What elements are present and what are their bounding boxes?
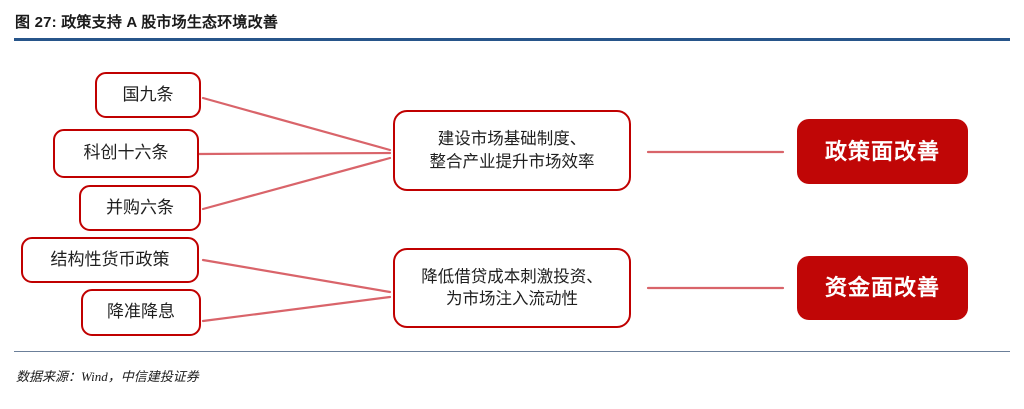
source-node-label: 并购六条	[106, 197, 174, 220]
flow-diagram: 国九条 科创十六条 并购六条 结构性货币政策 降准降息 建设市场基础制度、 整合…	[0, 48, 1024, 348]
middle-node-market-infrastructure[interactable]: 建设市场基础制度、 整合产业提升市场效率	[393, 110, 631, 191]
source-node-jiegouxing[interactable]: 结构性货币政策	[21, 237, 199, 283]
outcome-node-policy-improvement[interactable]: 政策面改善	[797, 119, 968, 184]
middle-node-line2: 为市场注入流动性	[446, 288, 578, 310]
middle-node-line2: 整合产业提升市场效率	[430, 151, 595, 173]
source-node-label: 结构性货币政策	[51, 249, 170, 272]
source-node-label: 科创十六条	[84, 142, 169, 165]
edge-jiangzhun-to-funding	[203, 297, 390, 321]
middle-node-line1: 降低借贷成本刺激投资、	[421, 266, 603, 288]
header-divider	[14, 38, 1010, 41]
edge-kechuang16-to-market	[199, 153, 390, 154]
middle-node-line1: 建设市场基础制度、	[438, 128, 587, 150]
source-node-guojiutiao[interactable]: 国九条	[95, 72, 201, 118]
source-node-kechuang16[interactable]: 科创十六条	[53, 129, 199, 178]
source-node-label: 国九条	[123, 84, 174, 107]
edge-guojiutiao-to-market	[203, 98, 390, 150]
outcome-node-label: 资金面改善	[825, 273, 940, 303]
source-node-jiangzhun[interactable]: 降准降息	[81, 289, 201, 336]
source-node-label: 降准降息	[107, 301, 175, 324]
edge-jiegouxing-to-funding	[203, 260, 390, 292]
outcome-node-label: 政策面改善	[825, 137, 940, 167]
outcome-node-liquidity-improvement[interactable]: 资金面改善	[797, 256, 968, 320]
footer-divider	[14, 351, 1010, 352]
middle-node-lower-funding-cost[interactable]: 降低借贷成本刺激投资、 为市场注入流动性	[393, 248, 631, 328]
figure-source-note: 数据来源：Wind，中信建投证券	[16, 366, 199, 385]
source-node-binggou6[interactable]: 并购六条	[79, 185, 201, 231]
page-title: 图 27: 政策支持 A 股市场生态环境改善	[15, 11, 278, 32]
edge-binggou6-to-market	[203, 158, 390, 209]
